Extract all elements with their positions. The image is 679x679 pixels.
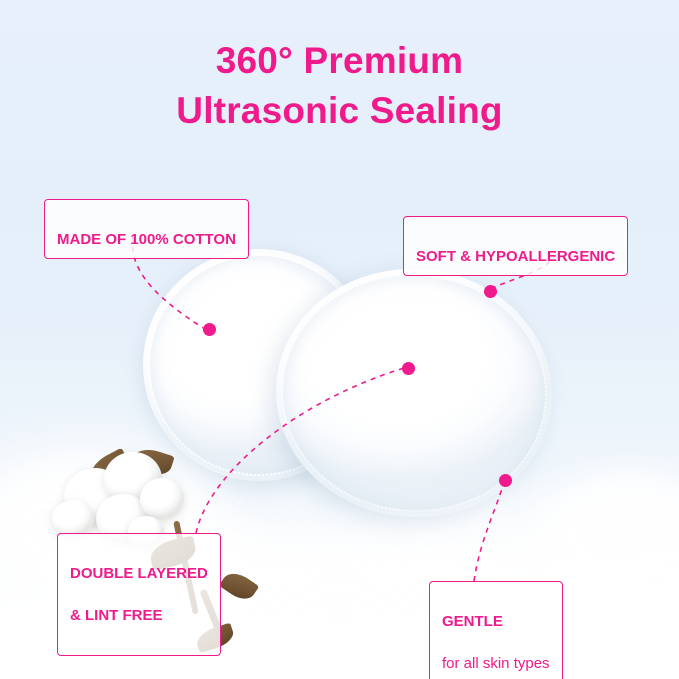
anchor-dot-made-of-cotton bbox=[203, 323, 216, 336]
callout-made-of-cotton-label: MADE OF 100% COTTON bbox=[57, 231, 236, 248]
callout-soft-hypoallergenic: SOFT & HYPOALLERGENIC bbox=[403, 216, 628, 276]
callout-gentle-line2: for all skin types bbox=[442, 653, 550, 674]
anchor-dot-double-layered bbox=[402, 362, 415, 375]
callout-soft-hypoallergenic-label: SOFT & HYPOALLERGENIC bbox=[416, 248, 615, 265]
callout-gentle: GENTLE for all skin types bbox=[429, 581, 563, 679]
anchor-dot-gentle bbox=[499, 474, 512, 487]
page-title: 360° Premium Ultrasonic Sealing bbox=[0, 36, 679, 136]
callout-double-layered: DOUBLE LAYERED & LINT FREE bbox=[57, 533, 221, 656]
product-image-canvas: 360° Premium Ultrasonic Sealing MADE OF … bbox=[0, 0, 679, 679]
callout-made-of-cotton: MADE OF 100% COTTON bbox=[44, 199, 249, 259]
callout-double-layered-line1: DOUBLE LAYERED bbox=[70, 563, 208, 584]
callout-gentle-line1: GENTLE bbox=[442, 611, 550, 632]
callout-double-layered-line2: & LINT FREE bbox=[70, 605, 208, 626]
anchor-dot-soft-hypoallergenic bbox=[484, 285, 497, 298]
